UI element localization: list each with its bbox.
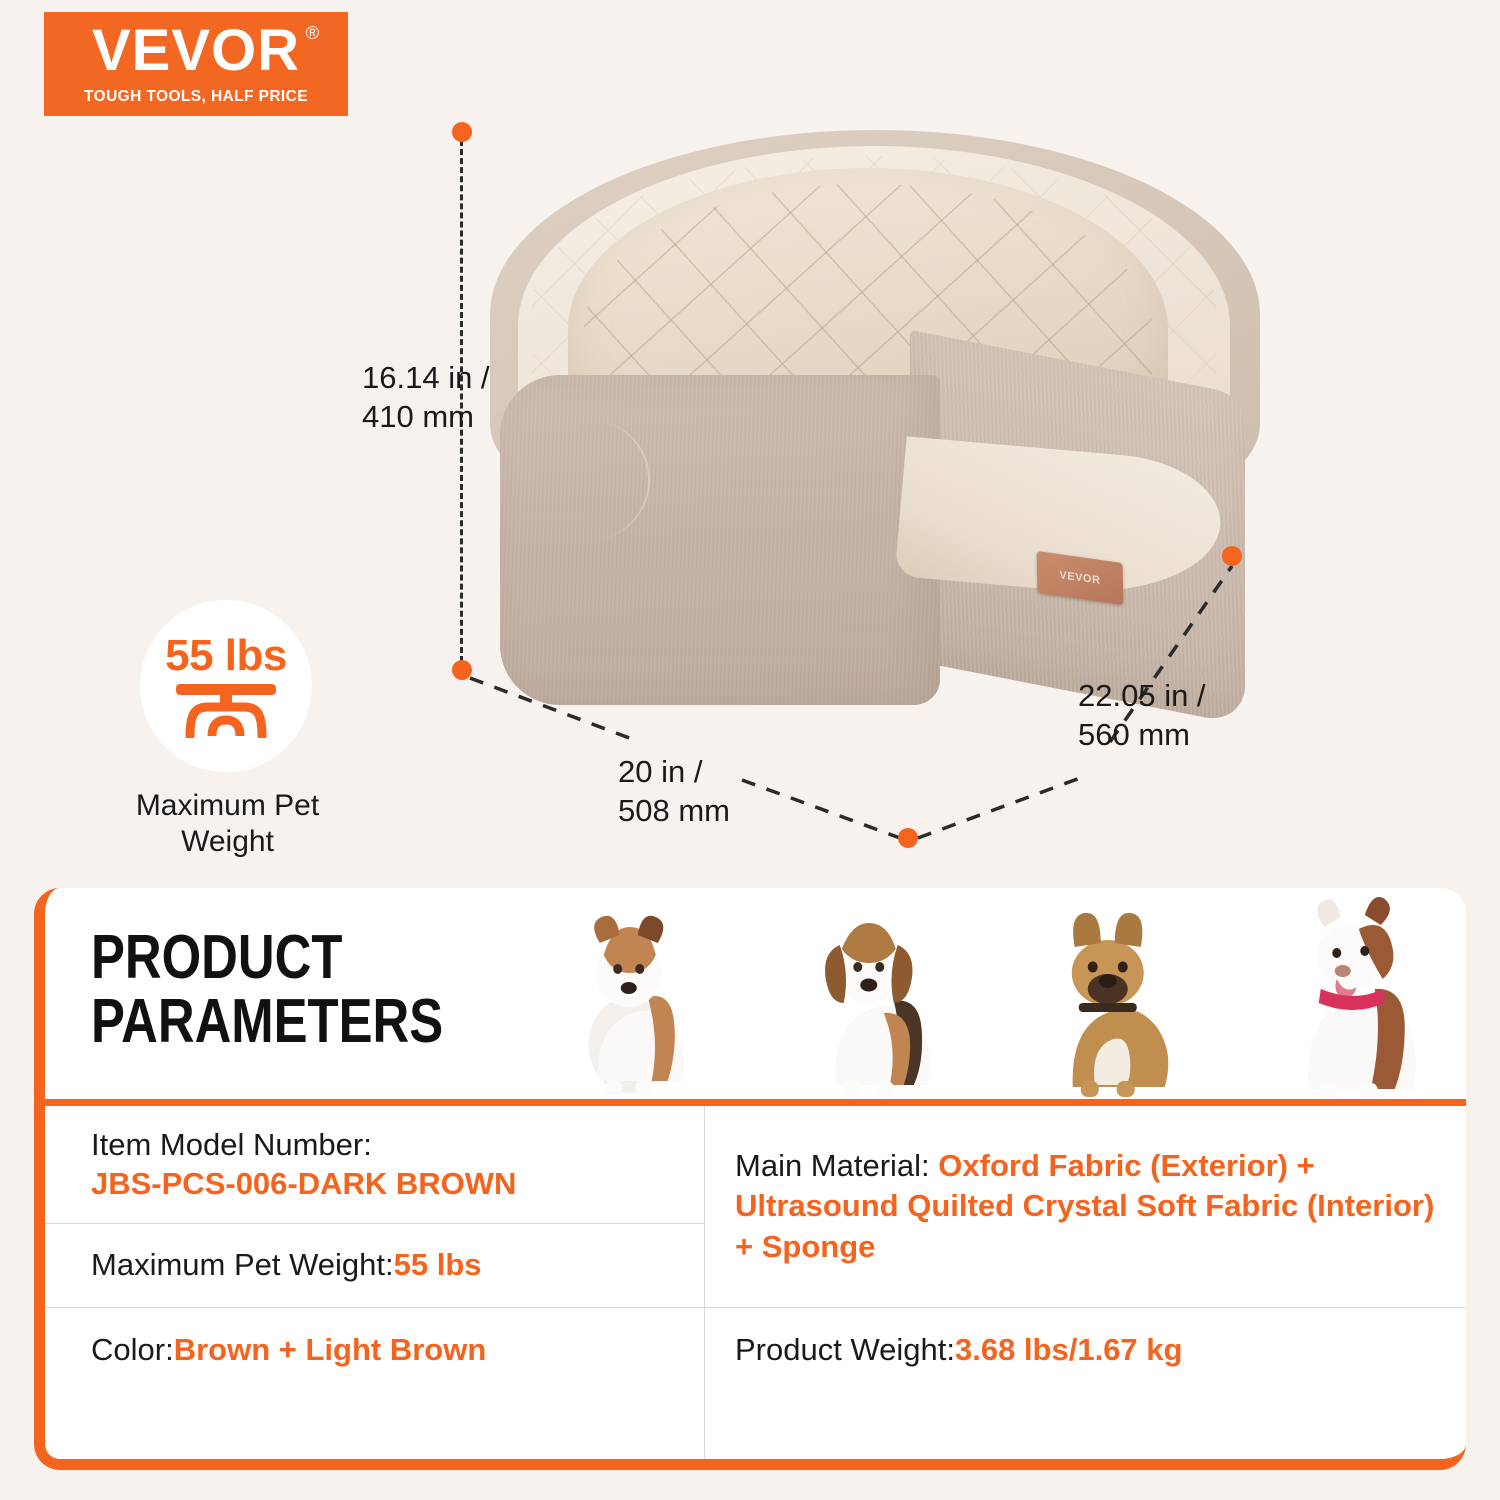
parameters-table: Item Model Number: JBS-PCS-006-DARK BROW…	[45, 1106, 1466, 1459]
row-main-material: Main Material: Oxford Fabric (Exterior) …	[705, 1106, 1466, 1308]
product-weight-value: 3.68 lbs/1.67 kg	[955, 1330, 1182, 1370]
color-label: Color:	[91, 1330, 174, 1370]
item-model-number-label: Item Model Number:	[91, 1126, 372, 1165]
product-parameters-card: PRODUCT PARAMETERS	[34, 888, 1466, 1470]
max-pet-weight-badge: 55 lbs	[140, 600, 312, 772]
dimension-dot-width-far	[1222, 546, 1242, 566]
row-product-dimensions: Product Dimensions: 22.05 x 20 x 16.14 i…	[45, 1459, 1466, 1470]
dimension-dot-height-bottom	[452, 660, 472, 680]
card-title: PRODUCT PARAMETERS	[91, 926, 443, 1055]
dimension-dot-depth-near	[898, 828, 918, 848]
card-header: PRODUCT PARAMETERS	[45, 888, 1466, 1106]
max-pet-weight-caption: Maximum Pet Weight	[130, 788, 325, 860]
product-hero: VEVOR 16.14 in / 410 mm 20 in / 508 mm 2…	[0, 0, 1500, 880]
dog-size-illustrations	[528, 888, 1448, 1099]
row-color: Color: Brown + Light Brown	[45, 1308, 704, 1392]
parameters-column-left: Item Model Number: JBS-PCS-006-DARK BROW…	[45, 1106, 705, 1459]
item-model-number-value: JBS-PCS-006-DARK BROWN	[91, 1165, 516, 1204]
dog-jack-russell-terrier	[528, 888, 730, 1099]
main-material-label: Main Material:	[735, 1148, 938, 1183]
maximum-pet-weight-value: 55 lbs	[394, 1245, 482, 1285]
max-pet-weight-value: 55 lbs	[165, 634, 287, 678]
maximum-pet-weight-label: Maximum Pet Weight:	[91, 1245, 394, 1285]
dog-beagle	[768, 888, 970, 1099]
dimension-label-depth: 20 in / 508 mm	[618, 752, 730, 830]
row-item-model-number: Item Model Number: JBS-PCS-006-DARK BROW…	[45, 1106, 704, 1224]
weight-scale-icon	[174, 682, 278, 738]
row-product-weight: Product Weight: 3.68 lbs/1.67 kg	[705, 1308, 1466, 1392]
dimension-dot-height-top	[452, 122, 472, 142]
dog-pit-bull-terrier	[1247, 888, 1449, 1099]
color-value: Brown + Light Brown	[174, 1330, 487, 1370]
dog-french-bulldog	[1007, 888, 1209, 1099]
parameters-column-right: Main Material: Oxford Fabric (Exterior) …	[705, 1106, 1466, 1459]
product-weight-label: Product Weight:	[735, 1330, 955, 1370]
row-maximum-pet-weight: Maximum Pet Weight: 55 lbs	[45, 1224, 704, 1308]
dimension-label-height: 16.14 in / 410 mm	[362, 358, 490, 436]
dimension-label-width: 22.05 in / 560 mm	[1078, 676, 1206, 754]
